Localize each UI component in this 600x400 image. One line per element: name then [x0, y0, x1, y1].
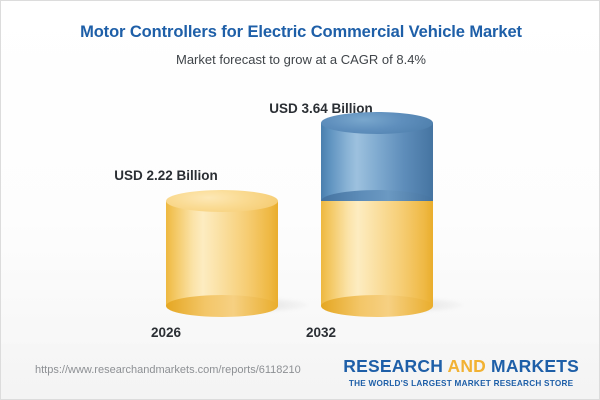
logo-word-research: RESEARCH	[343, 356, 447, 376]
logo-word-markets: MARKETS	[486, 356, 579, 376]
report-url[interactable]: https://www.researchandmarkets.com/repor…	[35, 364, 301, 376]
research-and-markets-logo[interactable]: RESEARCH AND MARKETS THE WORLD'S LARGEST…	[343, 356, 579, 388]
chart-subtitle: Market forecast to grow at a CAGR of 8.4…	[1, 42, 600, 67]
bar-segment-top-cap	[166, 190, 278, 212]
axis-label-2026: 2026	[151, 325, 181, 340]
value-label-2026: USD 2.22 Billion	[114, 168, 218, 183]
chart-plot-area: USD 2.22 Billion 2026 USD 3.64 Billion	[1, 96, 600, 346]
bar-segment-blue-2032	[321, 123, 433, 201]
bar-segment-yellow-2032	[321, 201, 433, 306]
bar-segment-bottom-cap	[166, 295, 278, 317]
chart-title: Motor Controllers for Electric Commercia…	[1, 1, 600, 42]
chart-footer: https://www.researchandmarkets.com/repor…	[1, 344, 600, 399]
axis-label-2032: 2032	[306, 325, 336, 340]
bar-segment-top-cap	[321, 112, 433, 134]
bar-segment-body	[321, 201, 433, 306]
logo-wordmark: RESEARCH AND MARKETS	[343, 356, 579, 377]
bar-segment-bottom-cap	[321, 295, 433, 317]
bar-segment-body	[166, 201, 278, 306]
chart-card: Motor Controllers for Electric Commercia…	[0, 0, 600, 400]
chart-header: Motor Controllers for Electric Commercia…	[1, 1, 600, 67]
logo-tagline: THE WORLD'S LARGEST MARKET RESEARCH STOR…	[343, 379, 579, 388]
bar-segment-yellow-2026	[166, 201, 278, 306]
bar-cylinder-2032[interactable]	[321, 123, 433, 306]
logo-word-and: AND	[447, 356, 486, 376]
bar-cylinder-2026[interactable]	[166, 201, 278, 306]
